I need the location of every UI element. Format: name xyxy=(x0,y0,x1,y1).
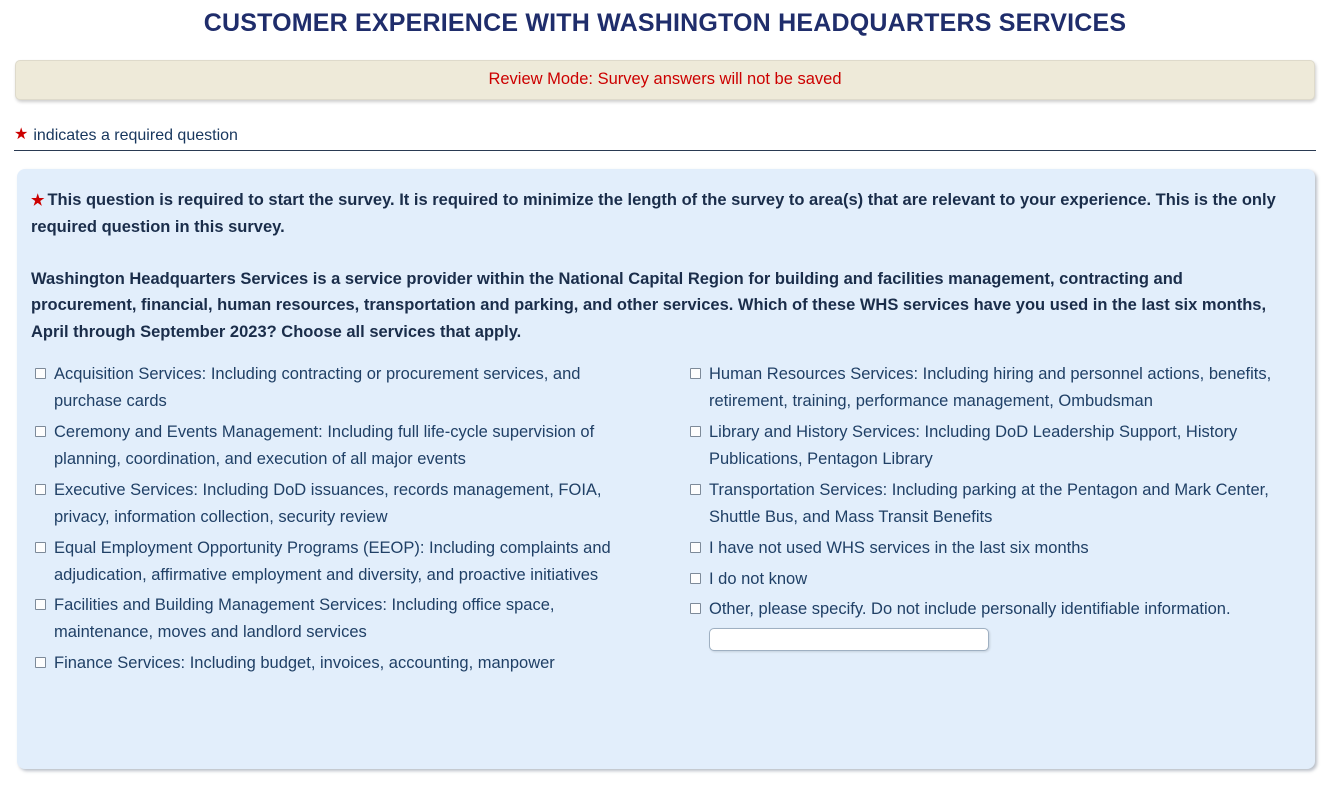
checkbox-label: Library and History Services: Including … xyxy=(709,419,1301,473)
checkbox-option-facilities-building-management[interactable]: Facilities and Building Management Servi… xyxy=(31,592,652,646)
checkbox-icon[interactable] xyxy=(690,484,701,495)
checkbox-icon[interactable] xyxy=(690,603,701,614)
checkbox-icon[interactable] xyxy=(690,573,701,584)
review-banner-container: Review Mode: Survey answers will not be … xyxy=(0,41,1330,100)
options-container: Acquisition Services: Including contract… xyxy=(31,361,1301,681)
question-required-note: ★This question is required to start the … xyxy=(31,187,1301,241)
checkbox-option-other-specify[interactable]: Other, please specify. Do not include pe… xyxy=(686,596,1301,623)
required-legend-label: indicates a required question xyxy=(33,126,238,145)
required-star-icon: ★ xyxy=(14,127,28,143)
checkbox-option-eeop[interactable]: Equal Employment Opportunity Programs (E… xyxy=(31,535,652,589)
checkbox-icon[interactable] xyxy=(690,542,701,553)
required-star-icon: ★ xyxy=(31,192,44,209)
checkbox-label: Human Resources Services: Including hiri… xyxy=(709,361,1301,415)
page-title: CUSTOMER EXPERIENCE WITH WASHINGTON HEAD… xyxy=(0,0,1330,41)
checkbox-label: Ceremony and Events Management: Includin… xyxy=(54,419,652,473)
checkbox-label: I have not used WHS services in the last… xyxy=(709,535,1089,562)
checkbox-label: I do not know xyxy=(709,566,807,593)
checkbox-icon[interactable] xyxy=(690,426,701,437)
checkbox-icon[interactable] xyxy=(35,484,46,495)
checkbox-label: Facilities and Building Management Servi… xyxy=(54,592,652,646)
question-card: ★This question is required to start the … xyxy=(17,169,1315,769)
question-required-note-text: This question is required to start the s… xyxy=(31,191,1276,236)
checkbox-icon[interactable] xyxy=(35,426,46,437)
other-specify-input-container xyxy=(686,628,1301,651)
checkbox-option-acquisition-services[interactable]: Acquisition Services: Including contract… xyxy=(31,361,652,415)
review-mode-banner: Review Mode: Survey answers will not be … xyxy=(15,60,1315,100)
checkbox-option-human-resources-services[interactable]: Human Resources Services: Including hiri… xyxy=(686,361,1301,415)
checkbox-option-do-not-know[interactable]: I do not know xyxy=(686,566,1301,593)
checkbox-label: Transportation Services: Including parki… xyxy=(709,477,1301,531)
checkbox-label: Finance Services: Including budget, invo… xyxy=(54,650,555,677)
options-column-right: Human Resources Services: Including hiri… xyxy=(666,361,1301,651)
checkbox-label: Acquisition Services: Including contract… xyxy=(54,361,652,415)
options-column-left: Acquisition Services: Including contract… xyxy=(31,361,666,681)
checkbox-label: Executive Services: Including DoD issuan… xyxy=(54,477,652,531)
checkbox-label: Equal Employment Opportunity Programs (E… xyxy=(54,535,652,589)
checkbox-icon[interactable] xyxy=(35,368,46,379)
checkbox-icon[interactable] xyxy=(35,599,46,610)
checkbox-option-library-history-services[interactable]: Library and History Services: Including … xyxy=(686,419,1301,473)
checkbox-icon[interactable] xyxy=(690,368,701,379)
checkbox-option-finance-services[interactable]: Finance Services: Including budget, invo… xyxy=(31,650,652,677)
required-legend: ★ indicates a required question xyxy=(14,126,1316,150)
other-specify-input[interactable] xyxy=(709,628,989,651)
checkbox-icon[interactable] xyxy=(35,542,46,553)
checkbox-option-ceremony-events-management[interactable]: Ceremony and Events Management: Includin… xyxy=(31,419,652,473)
checkbox-option-transportation-services[interactable]: Transportation Services: Including parki… xyxy=(686,477,1301,531)
checkbox-label: Other, please specify. Do not include pe… xyxy=(709,596,1231,623)
legend-divider xyxy=(14,150,1316,151)
question-prompt: Washington Headquarters Services is a se… xyxy=(31,266,1286,347)
checkbox-icon[interactable] xyxy=(35,657,46,668)
checkbox-option-not-used-whs[interactable]: I have not used WHS services in the last… xyxy=(686,535,1301,562)
checkbox-option-executive-services[interactable]: Executive Services: Including DoD issuan… xyxy=(31,477,652,531)
